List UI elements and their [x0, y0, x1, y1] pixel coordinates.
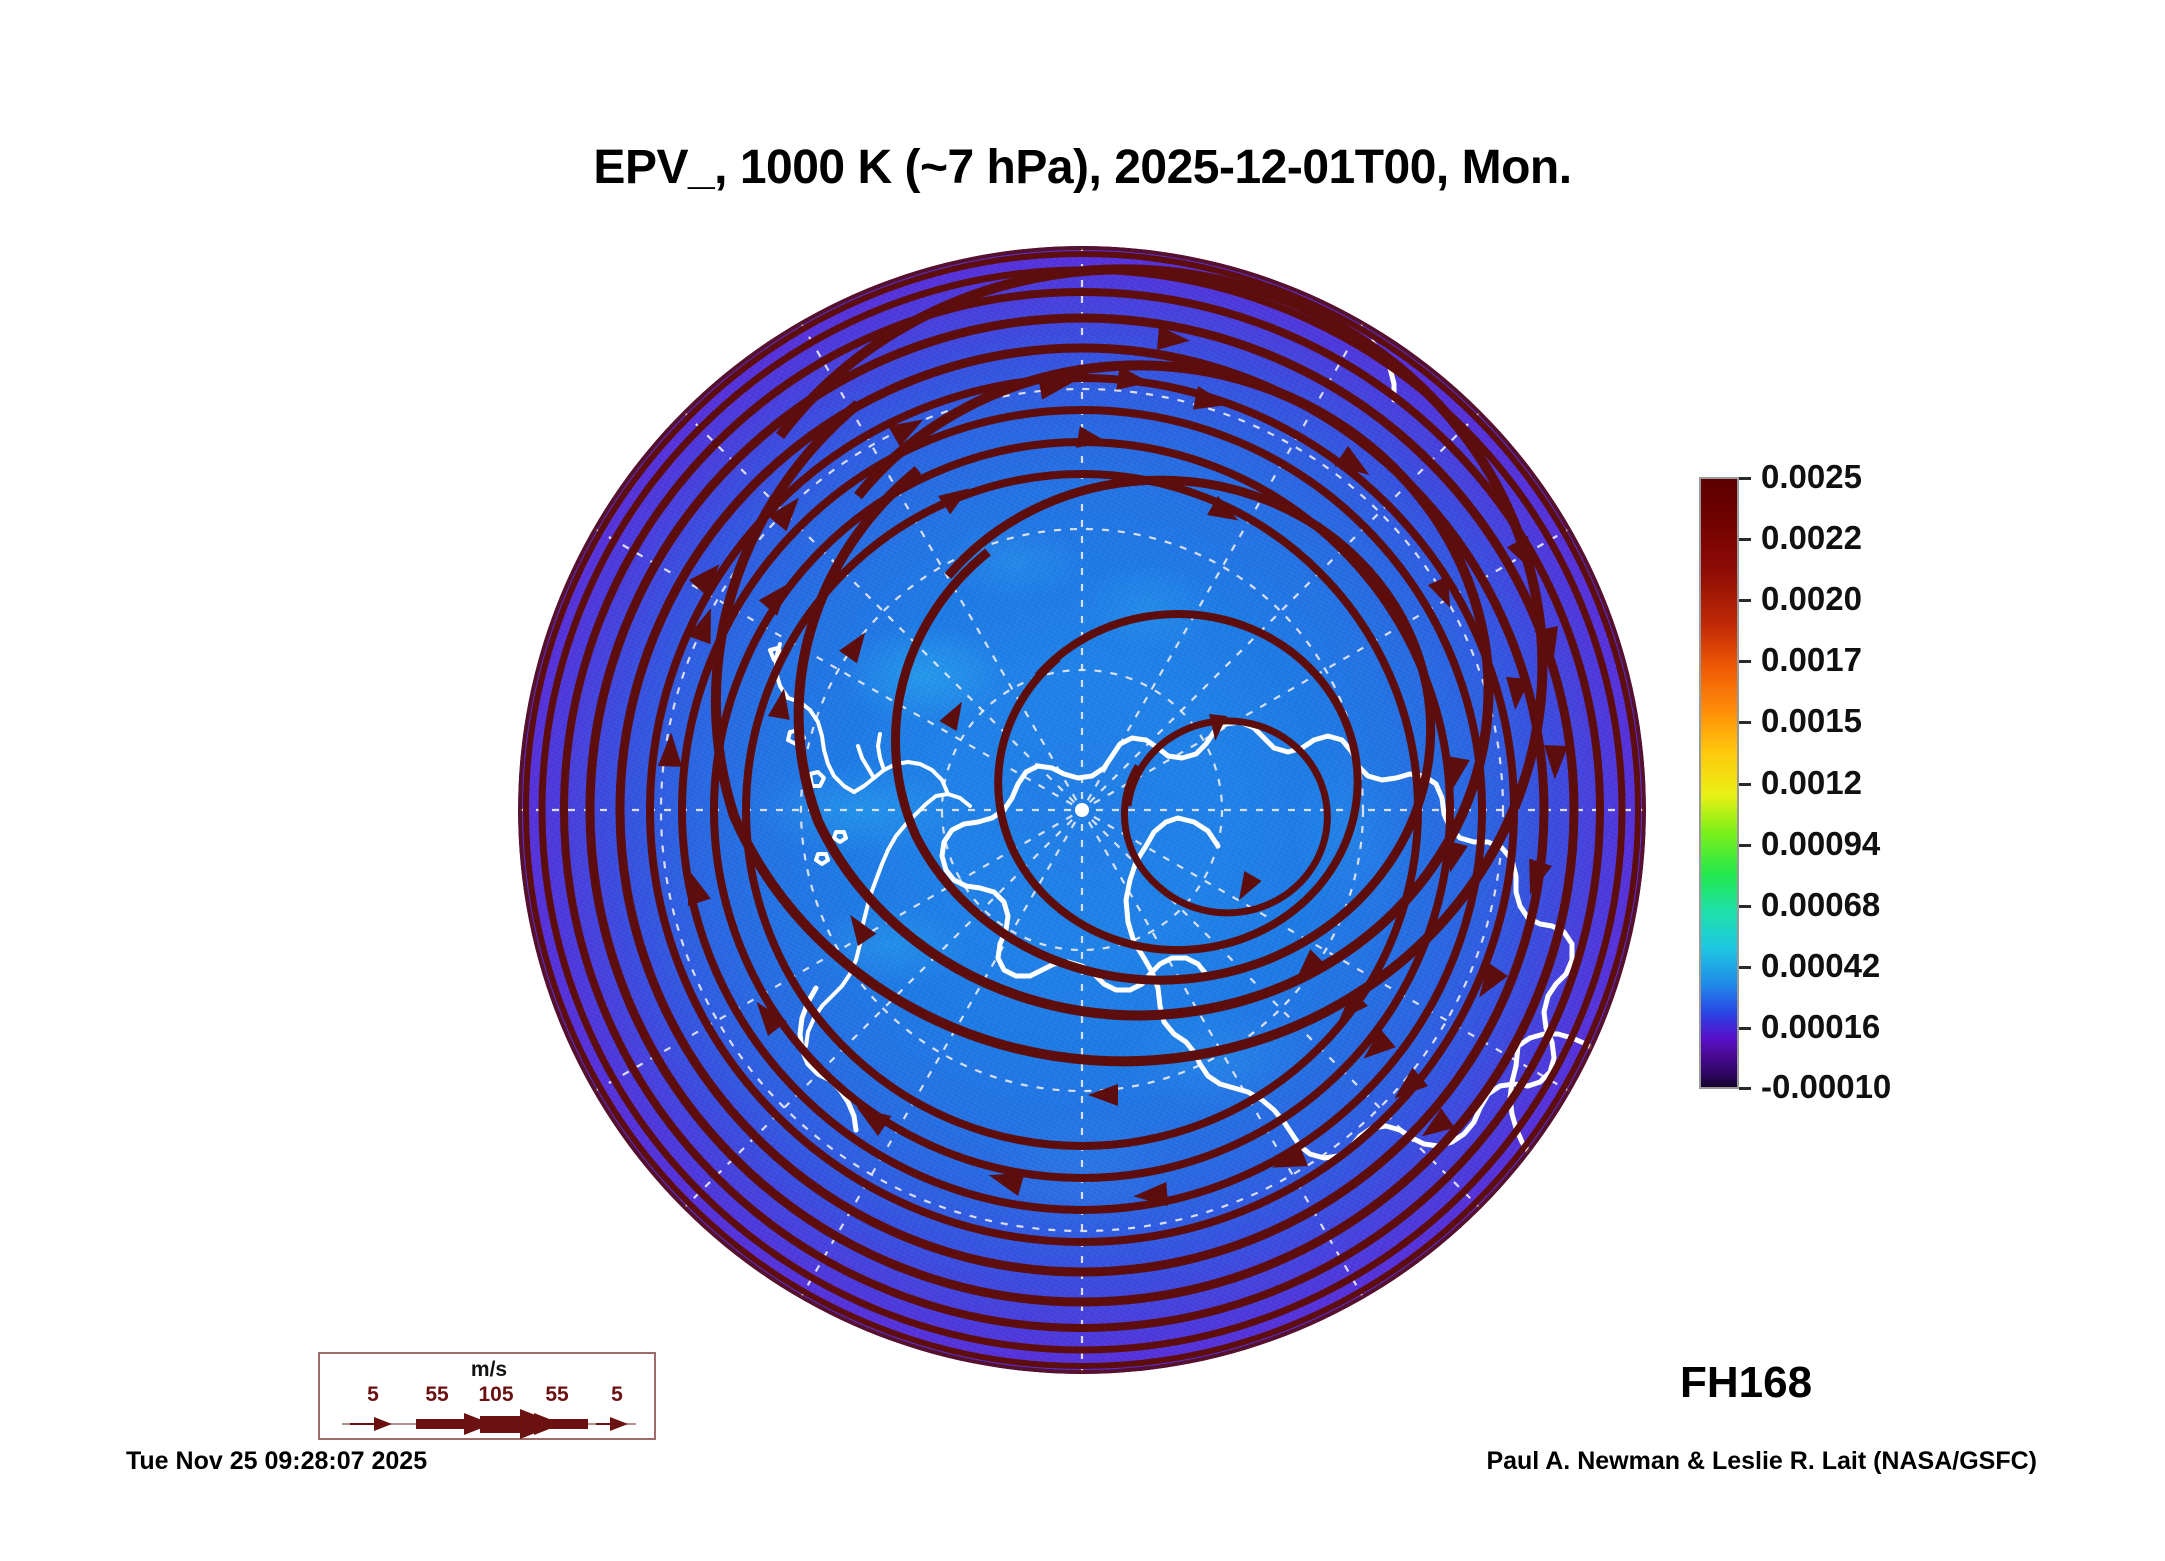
colorbar-tick: [1739, 538, 1751, 541]
colorbar-tick: [1739, 1027, 1751, 1030]
colorbar-tick: [1739, 721, 1751, 724]
attribution-credit: Paul A. Newman & Leslie R. Lait (NASA/GS…: [1486, 1447, 2037, 1476]
colorbar: 0.0025 0.0022 0.0020 0.0017 0.0015 0.001…: [1699, 477, 2119, 1089]
wind-legend-tick: 55: [425, 1383, 448, 1407]
wind-arrow-5-right: [596, 1417, 628, 1431]
colorbar-label: 0.00094: [1761, 825, 1880, 863]
wind-legend-tick: 105: [478, 1383, 513, 1407]
wind-speed-legend: m/s 5 55 105 55 5: [318, 1352, 656, 1440]
wind-arrow-5-left: [350, 1417, 392, 1431]
wind-legend-tick: 5: [611, 1383, 623, 1407]
colorbar-label: 0.00068: [1761, 886, 1880, 924]
page-title: EPV_, 1000 K (~7 hPa), 2025-12-01T00, Mo…: [0, 140, 2165, 195]
colorbar-label: 0.0017: [1761, 641, 1862, 679]
colorbar-label: 0.00016: [1761, 1008, 1880, 1046]
wind-legend-arrow-scale: [320, 1408, 658, 1440]
colorbar-label: 0.0015: [1761, 702, 1862, 740]
colorbar-tick: [1739, 783, 1751, 786]
colorbar-label: -0.00010: [1761, 1068, 1891, 1106]
forecast-hour-label: FH168: [1680, 1358, 1812, 1408]
colorbar-label: 0.00042: [1761, 947, 1880, 985]
colorbar-tick: [1739, 905, 1751, 908]
polar-map-disk: [518, 246, 1646, 1374]
colorbar-tick: [1739, 477, 1751, 480]
colorbar-tick: [1739, 599, 1751, 602]
colorbar-label: 0.0022: [1761, 519, 1862, 557]
colorbar-gradient: [1699, 477, 1739, 1089]
colorbar-tick: [1739, 844, 1751, 847]
wind-legend-unit-label: m/s: [320, 1358, 658, 1382]
map-disk-rim: [518, 246, 1646, 1374]
colorbar-label: 0.0020: [1761, 580, 1862, 618]
wind-legend-tick: 5: [367, 1383, 379, 1407]
render-timestamp: Tue Nov 25 09:28:07 2025: [126, 1447, 427, 1476]
polar-map-panel: [518, 246, 1646, 1374]
colorbar-label: 0.0025: [1761, 458, 1862, 496]
colorbar-tick: [1739, 660, 1751, 663]
wind-arrow-55-right: [534, 1413, 588, 1435]
colorbar-tick: [1739, 966, 1751, 969]
colorbar-tick: [1739, 1087, 1751, 1090]
wind-legend-tick: 55: [545, 1383, 568, 1407]
colorbar-label: 0.0012: [1761, 764, 1862, 802]
